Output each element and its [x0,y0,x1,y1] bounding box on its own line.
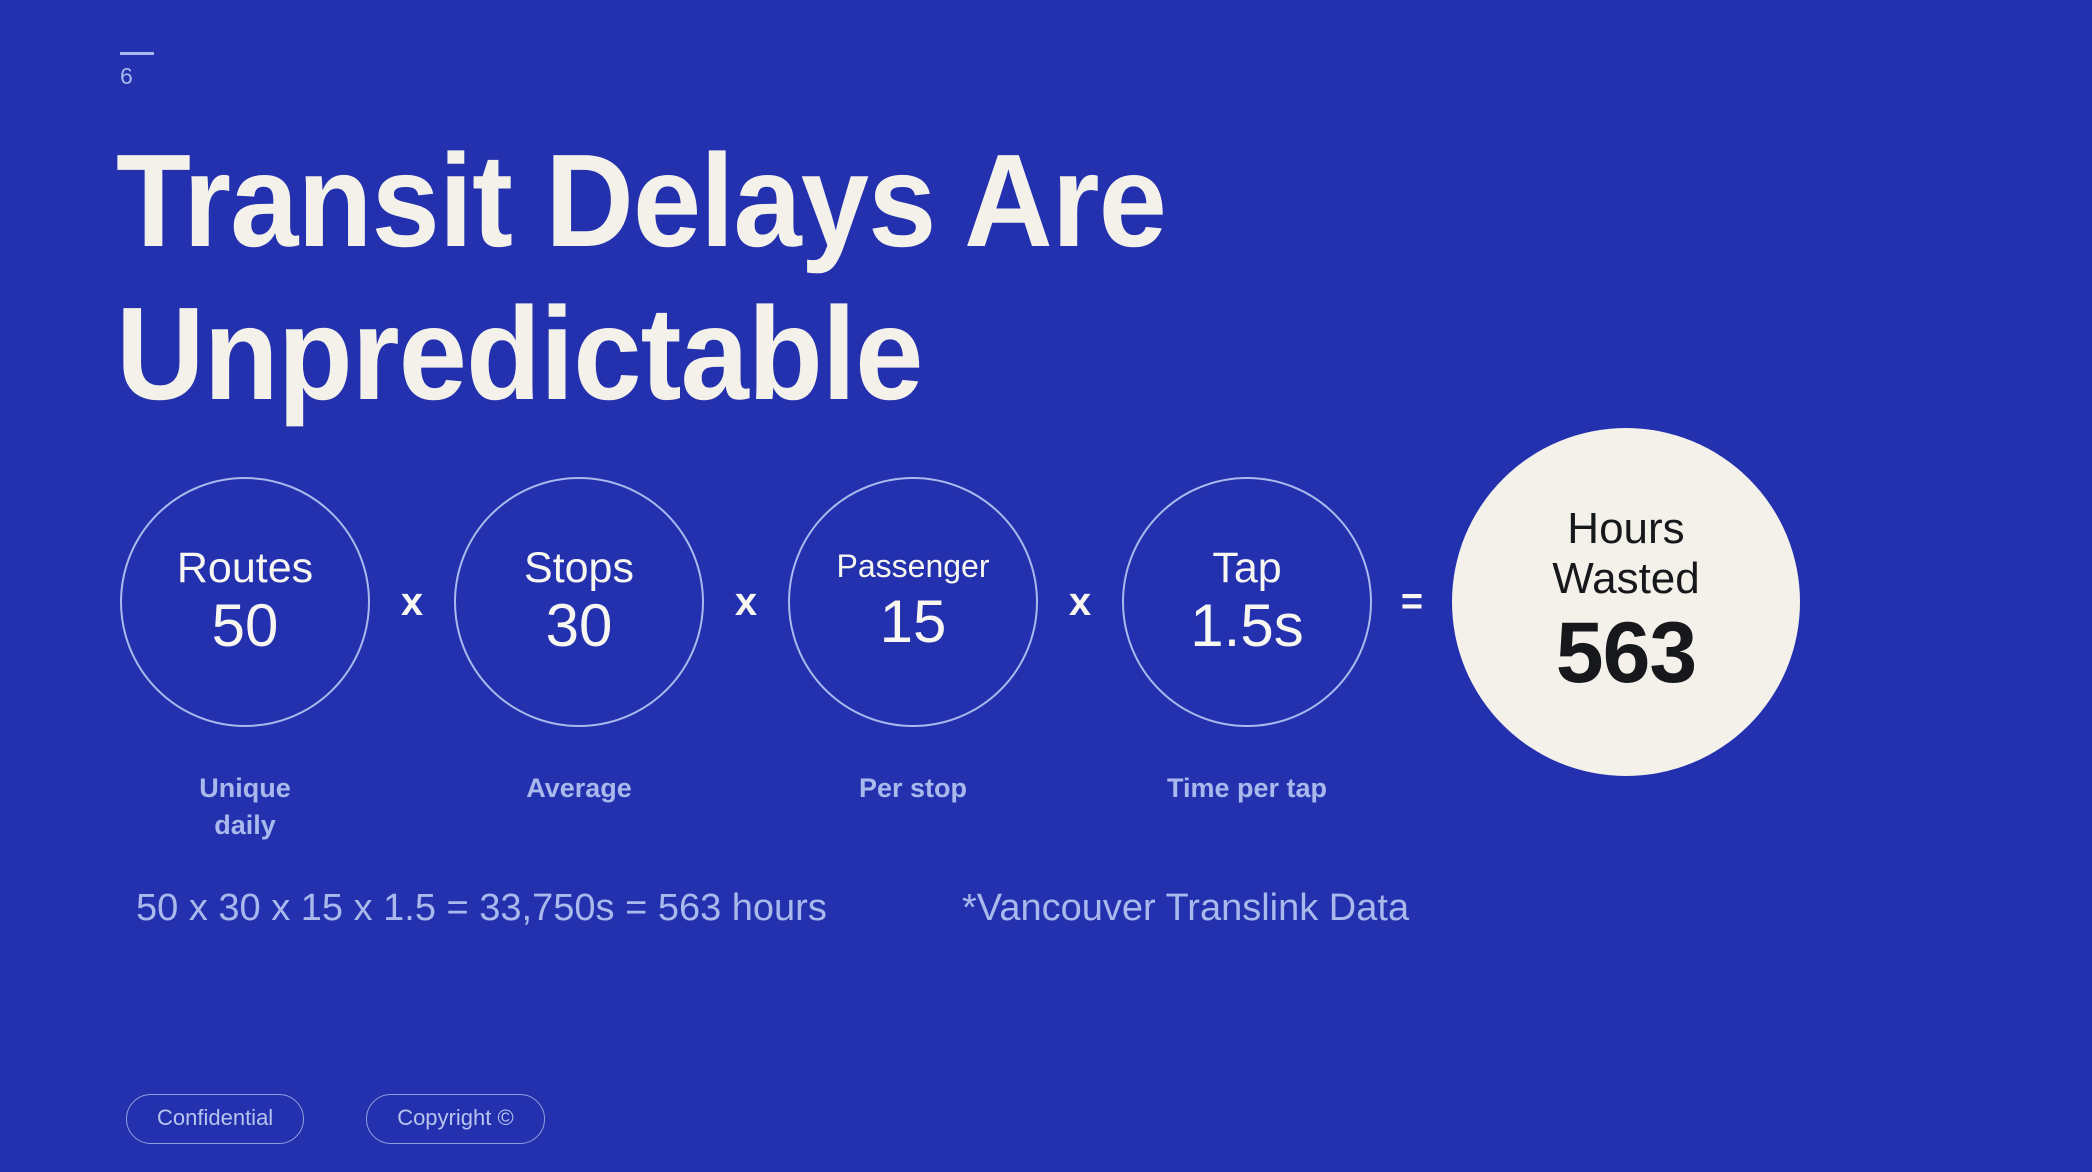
operator-multiply-1: x [370,580,454,625]
metric-node-tap: Tap 1.5s [1122,477,1372,727]
metric-circle-stops: Stops 30 [454,477,704,727]
footer-badges: Confidential Copyright © [126,1094,545,1144]
confidential-badge[interactable]: Confidential [126,1094,304,1144]
metric-label-routes: Routes [177,545,313,591]
caption-tap-line-1: Time per tap [1167,773,1327,803]
caption-passenger-line-1: Per stop [859,773,967,803]
page-title-line-1: Transit Delays Are [116,124,1325,277]
caption-stops-line-1: Average [526,773,632,803]
operator-equals: = [1372,581,1452,624]
metric-value-tap: 1.5s [1190,594,1303,659]
metric-node-routes: Routes 50 [120,477,370,727]
source-note: *Vancouver Translink Data [962,887,1409,930]
metric-node-result: Hours Wasted 563 [1452,428,1800,776]
page-marker: 6 [120,52,240,88]
metric-label-passenger: Passenger [837,549,990,584]
caption-routes: Unique daily [120,770,370,845]
metric-label-hours-wasted: Hours Wasted [1552,504,1700,603]
caption-row: Unique daily Average Per stop Time per t… [120,770,1620,860]
formula-text: 50 x 30 x 15 x 1.5 = 33,750s = 563 hours [136,887,827,930]
metric-label-hours-wasted-line-2: Wasted [1552,554,1700,603]
metric-label-tap: Tap [1212,545,1281,591]
page-rule-divider [120,52,154,55]
metric-node-passenger: Passenger 15 [788,477,1038,727]
metric-label-stops: Stops [524,545,634,591]
metric-node-stops: Stops 30 [454,477,704,727]
metric-value-stops: 30 [546,594,613,659]
metric-value-passenger: 15 [880,590,947,655]
caption-routes-line-1: Unique [199,773,291,803]
metric-value-routes: 50 [212,594,279,659]
metric-circle-passenger: Passenger 15 [788,477,1038,727]
metric-value-hours-wasted: 563 [1556,607,1697,700]
equation-row: Routes 50 x Stops 30 x Passenger 15 x Ta… [120,432,1980,772]
caption-routes-line-2: daily [214,810,276,840]
page-title-line-2: Unpredictable [116,277,1325,430]
metric-circle-hours-wasted: Hours Wasted 563 [1452,428,1800,776]
caption-passenger: Per stop [788,770,1038,807]
slide-canvas: 6 Transit Delays Are Unpredictable Route… [0,0,2092,1172]
caption-stops: Average [454,770,704,807]
caption-tap: Time per tap [1122,770,1372,807]
copyright-badge[interactable]: Copyright © [366,1094,544,1144]
operator-multiply-3: x [1038,580,1122,625]
operator-multiply-2: x [704,580,788,625]
metric-circle-tap: Tap 1.5s [1122,477,1372,727]
metric-label-hours-wasted-line-1: Hours [1567,504,1684,553]
metric-circle-routes: Routes 50 [120,477,370,727]
page-number: 6 [120,65,240,88]
page-title: Transit Delays Are Unpredictable [116,124,1325,430]
